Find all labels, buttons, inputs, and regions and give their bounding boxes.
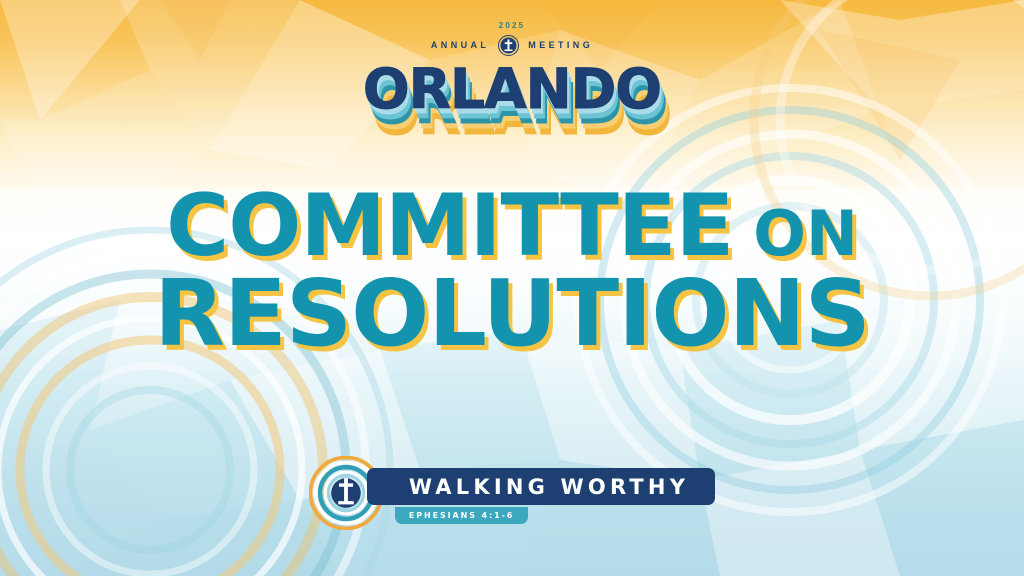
- annual-label: ANNUAL: [431, 41, 489, 50]
- title-line-1: COMMITTEEON: [0, 188, 1024, 265]
- slide-title: COMMITTEEON RESOLUTIONS: [0, 188, 1024, 356]
- annual-meeting-row: ANNUAL MEETING: [431, 35, 593, 56]
- event-header-lockup: 2025 ANNUAL MEETING ORLANDO ORLANDO ORLA…: [0, 22, 1024, 132]
- title-slide: 2025 ANNUAL MEETING ORLANDO ORLANDO ORLA…: [0, 0, 1024, 576]
- cross-emblem-icon: [498, 35, 519, 56]
- orlando-layer-navy: ORLANDO: [362, 60, 662, 118]
- orlando-wordmark: ORLANDO ORLANDO ORLANDO ORLANDO ORLANDO …: [362, 60, 662, 132]
- theme-scripture: EPHESIANS 4:1-6: [395, 507, 528, 524]
- title-line-2: RESOLUTIONS: [0, 273, 1024, 356]
- theme-headline: WALKING WORTHY: [367, 468, 715, 505]
- event-year: 2025: [499, 22, 526, 30]
- title-on: ON: [753, 197, 858, 270]
- theme-text-bars: WALKING WORTHY EPHESIANS 4:1-6: [367, 457, 715, 524]
- theme-badge: WALKING WORTHY EPHESIANS 4:1-6: [0, 457, 1024, 530]
- meeting-label: MEETING: [528, 41, 593, 50]
